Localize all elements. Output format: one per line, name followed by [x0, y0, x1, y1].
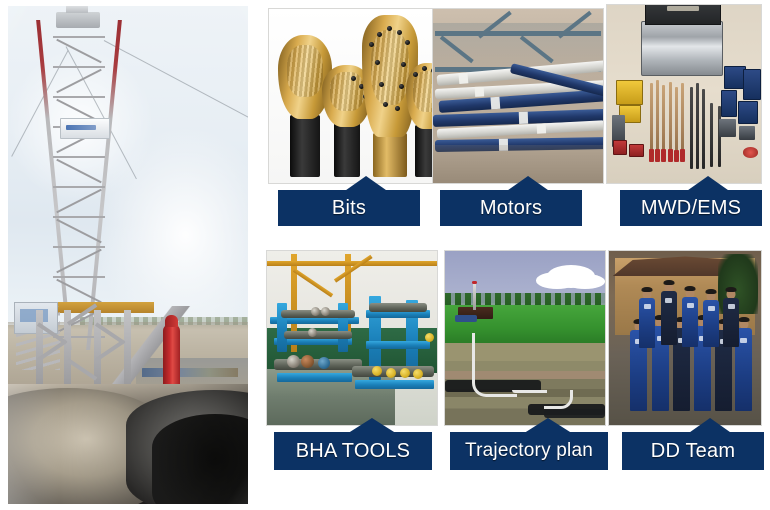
build-section: [472, 366, 517, 397]
card-motors[interactable]: Motors: [432, 8, 604, 184]
card-trajectory[interactable]: Trajectory plan: [444, 250, 606, 426]
surface-rig-icon: [467, 282, 481, 310]
mwd-image: [606, 4, 762, 184]
card-label-text: Trajectory plan: [465, 428, 593, 460]
card-dd-team[interactable]: DD Team: [608, 250, 762, 426]
pipe-shading: [8, 384, 248, 504]
rig-substructure: [30, 306, 150, 394]
card-label-text: BHA TOOLS: [296, 428, 410, 461]
transport-case: [641, 21, 723, 76]
card-mwd[interactable]: MWD/EMS: [606, 4, 762, 184]
card-label-text: MWD/EMS: [641, 185, 741, 218]
dd-team-image: [608, 250, 762, 426]
bits-image: [268, 8, 446, 184]
tangent-section: [544, 390, 573, 409]
card-bha-tools[interactable]: BHA TOOLS: [266, 250, 438, 426]
derrick-mast: [51, 20, 107, 350]
motors-image: [432, 8, 604, 184]
card-bits[interactable]: Bits: [268, 8, 446, 184]
horizontal-section: [512, 390, 547, 393]
capability-card-grid: Bits Motors: [258, 0, 770, 510]
card-label-text: Bits: [332, 185, 366, 218]
bha-tools-image: [266, 250, 438, 426]
drilling-rig-photo: [8, 6, 248, 504]
card-label-text: Motors: [480, 185, 542, 218]
card-label-text: DD Team: [651, 428, 735, 461]
cloud-icon: [547, 265, 595, 288]
slide-canvas: Bits Motors: [0, 0, 770, 510]
trajectory-image: [444, 250, 606, 426]
casing-pipes-foreground: [8, 384, 248, 504]
rig-contractor-logo-panel: [60, 118, 110, 139]
